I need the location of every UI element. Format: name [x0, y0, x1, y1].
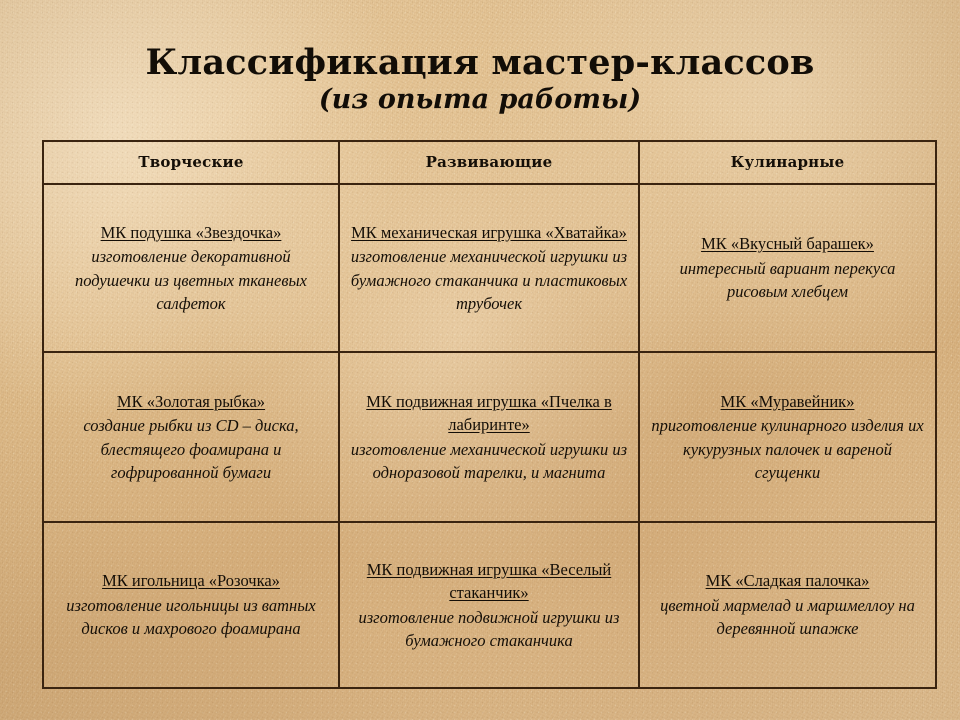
column-header-label: Развивающие	[426, 153, 553, 171]
table-cell: МК «Золотая рыбка» создание рыбки из CD …	[43, 352, 339, 522]
masterclass-title: МК подвижная игрушка «Веселый стаканчик»	[349, 558, 629, 605]
table-row: МК игольница «Розочка» изготовление игол…	[43, 522, 936, 688]
masterclass-description: изготовление игольницы из ватных дисков …	[53, 594, 329, 641]
column-header-culinary: Кулинарные	[639, 141, 936, 184]
table-cell: МК «Сладкая палочка» цветной мармелад и …	[639, 522, 936, 688]
masterclass-description: изготовление механической игрушки из одн…	[349, 438, 629, 485]
masterclass-description: изготовление подвижной игрушки из бумажн…	[349, 606, 629, 653]
masterclass-description: создание рыбки из CD – диска, блестящего…	[53, 414, 329, 484]
column-header-creative: Творческие	[43, 141, 339, 184]
masterclass-title: МК подушка «Звездочка»	[53, 221, 329, 244]
table-cell: МК «Муравейник» приготовление кулинарног…	[639, 352, 936, 522]
masterclass-title: МК «Сладкая палочка»	[649, 569, 926, 592]
title-block: Классификация мастер-классов (из опыта р…	[0, 44, 960, 114]
masterclass-title: МК «Вкусный барашек»	[649, 232, 926, 255]
table-row: МК подушка «Звездочка» изготовление деко…	[43, 184, 936, 352]
masterclass-title: МК «Золотая рыбка»	[53, 390, 329, 413]
column-header-label: Кулинарные	[731, 153, 845, 171]
table-cell: МК подвижная игрушка «Веселый стаканчик»…	[339, 522, 639, 688]
masterclass-description: интересный вариант перекуса рисовым хлеб…	[649, 257, 926, 304]
table-header-row: Творческие Развивающие Кулинарные	[43, 141, 936, 184]
table-cell: МК механическая игрушка «Хватайка» изгот…	[339, 184, 639, 352]
column-header-label: Творческие	[138, 153, 243, 171]
masterclass-title: МК «Муравейник»	[649, 390, 926, 413]
table-cell: МК «Вкусный барашек» интересный вариант …	[639, 184, 936, 352]
masterclass-description: изготовление механической игрушки из бум…	[349, 245, 629, 315]
masterclass-description: изготовление декоративной подушечки из ц…	[53, 245, 329, 315]
masterclass-title: МК подвижная игрушка «Пчелка в лабиринте…	[349, 390, 629, 437]
classification-table: Творческие Развивающие Кулинарные МК под…	[42, 140, 937, 689]
table-cell: МК подушка «Звездочка» изготовление деко…	[43, 184, 339, 352]
table-row: МК «Золотая рыбка» создание рыбки из CD …	[43, 352, 936, 522]
column-header-developmental: Развивающие	[339, 141, 639, 184]
masterclass-title: МК игольница «Розочка»	[53, 569, 329, 592]
masterclass-title: МК механическая игрушка «Хватайка»	[349, 221, 629, 244]
page-title: Классификация мастер-классов	[0, 44, 960, 82]
masterclass-description: цветной мармелад и маршмеллоу на деревян…	[649, 594, 926, 641]
slide-content: Классификация мастер-классов (из опыта р…	[0, 0, 960, 720]
classification-table-wrapper: Творческие Развивающие Кулинарные МК под…	[42, 140, 935, 681]
masterclass-description: приготовление кулинарного изделия их кук…	[649, 414, 926, 484]
table-cell: МК подвижная игрушка «Пчелка в лабиринте…	[339, 352, 639, 522]
table-cell: МК игольница «Розочка» изготовление игол…	[43, 522, 339, 688]
page-subtitle: (из опыта работы)	[0, 85, 960, 115]
